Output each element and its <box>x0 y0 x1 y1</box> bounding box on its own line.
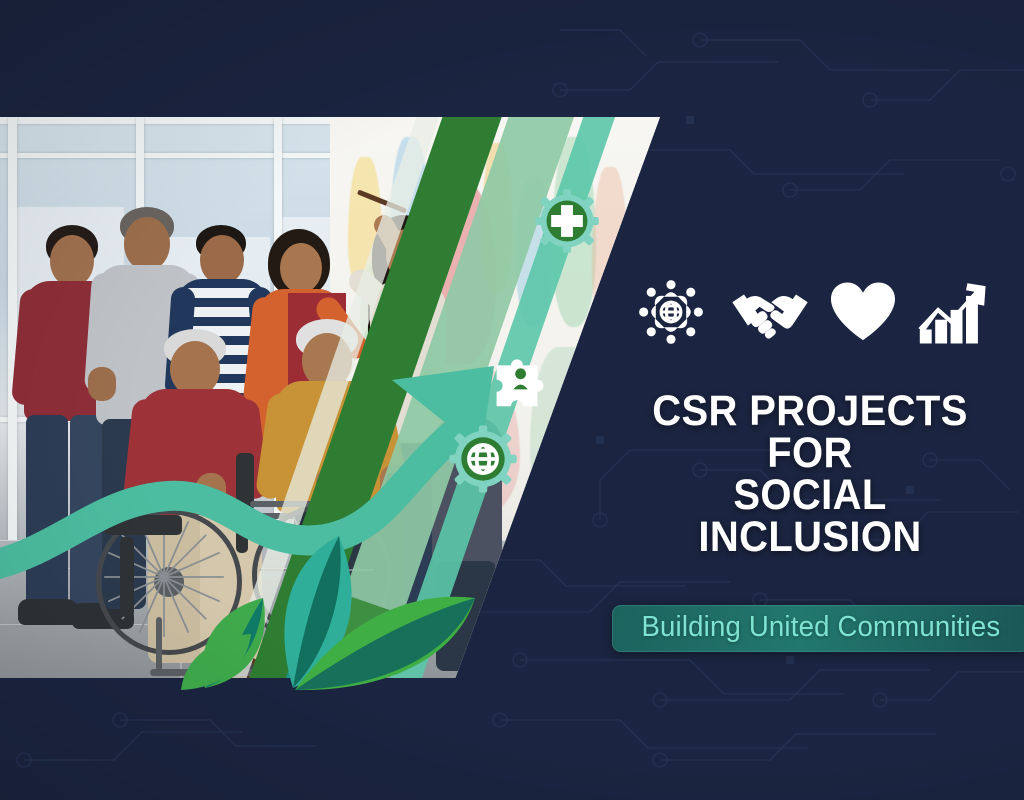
globe-gear-badge <box>448 424 518 494</box>
puzzle-piece-badge <box>493 352 553 410</box>
growth-chart-icon <box>917 279 987 345</box>
title-line-1: CSR PROJECTS FOR <box>652 387 968 477</box>
icon-row <box>612 270 1008 354</box>
subtitle-badge: Building United Communities <box>612 605 1024 652</box>
people-around-globe-icon <box>633 274 709 350</box>
heart-icon <box>831 282 895 342</box>
page-title: CSR PROJECTS FOR SOCIAL INCLUSION <box>626 390 994 559</box>
poster-canvas: CSR PROJECTS FOR SOCIAL INCLUSION Buildi… <box>0 0 1024 800</box>
leaf-cluster <box>175 520 485 690</box>
subtitle-text: Building United Communities <box>641 611 1000 644</box>
handshake-icon <box>731 281 809 343</box>
plus-gear-badge <box>534 188 600 254</box>
title-line-2: SOCIAL INCLUSION <box>626 474 994 558</box>
headline-block: CSR PROJECTS FOR SOCIAL INCLUSION Buildi… <box>612 270 1008 652</box>
